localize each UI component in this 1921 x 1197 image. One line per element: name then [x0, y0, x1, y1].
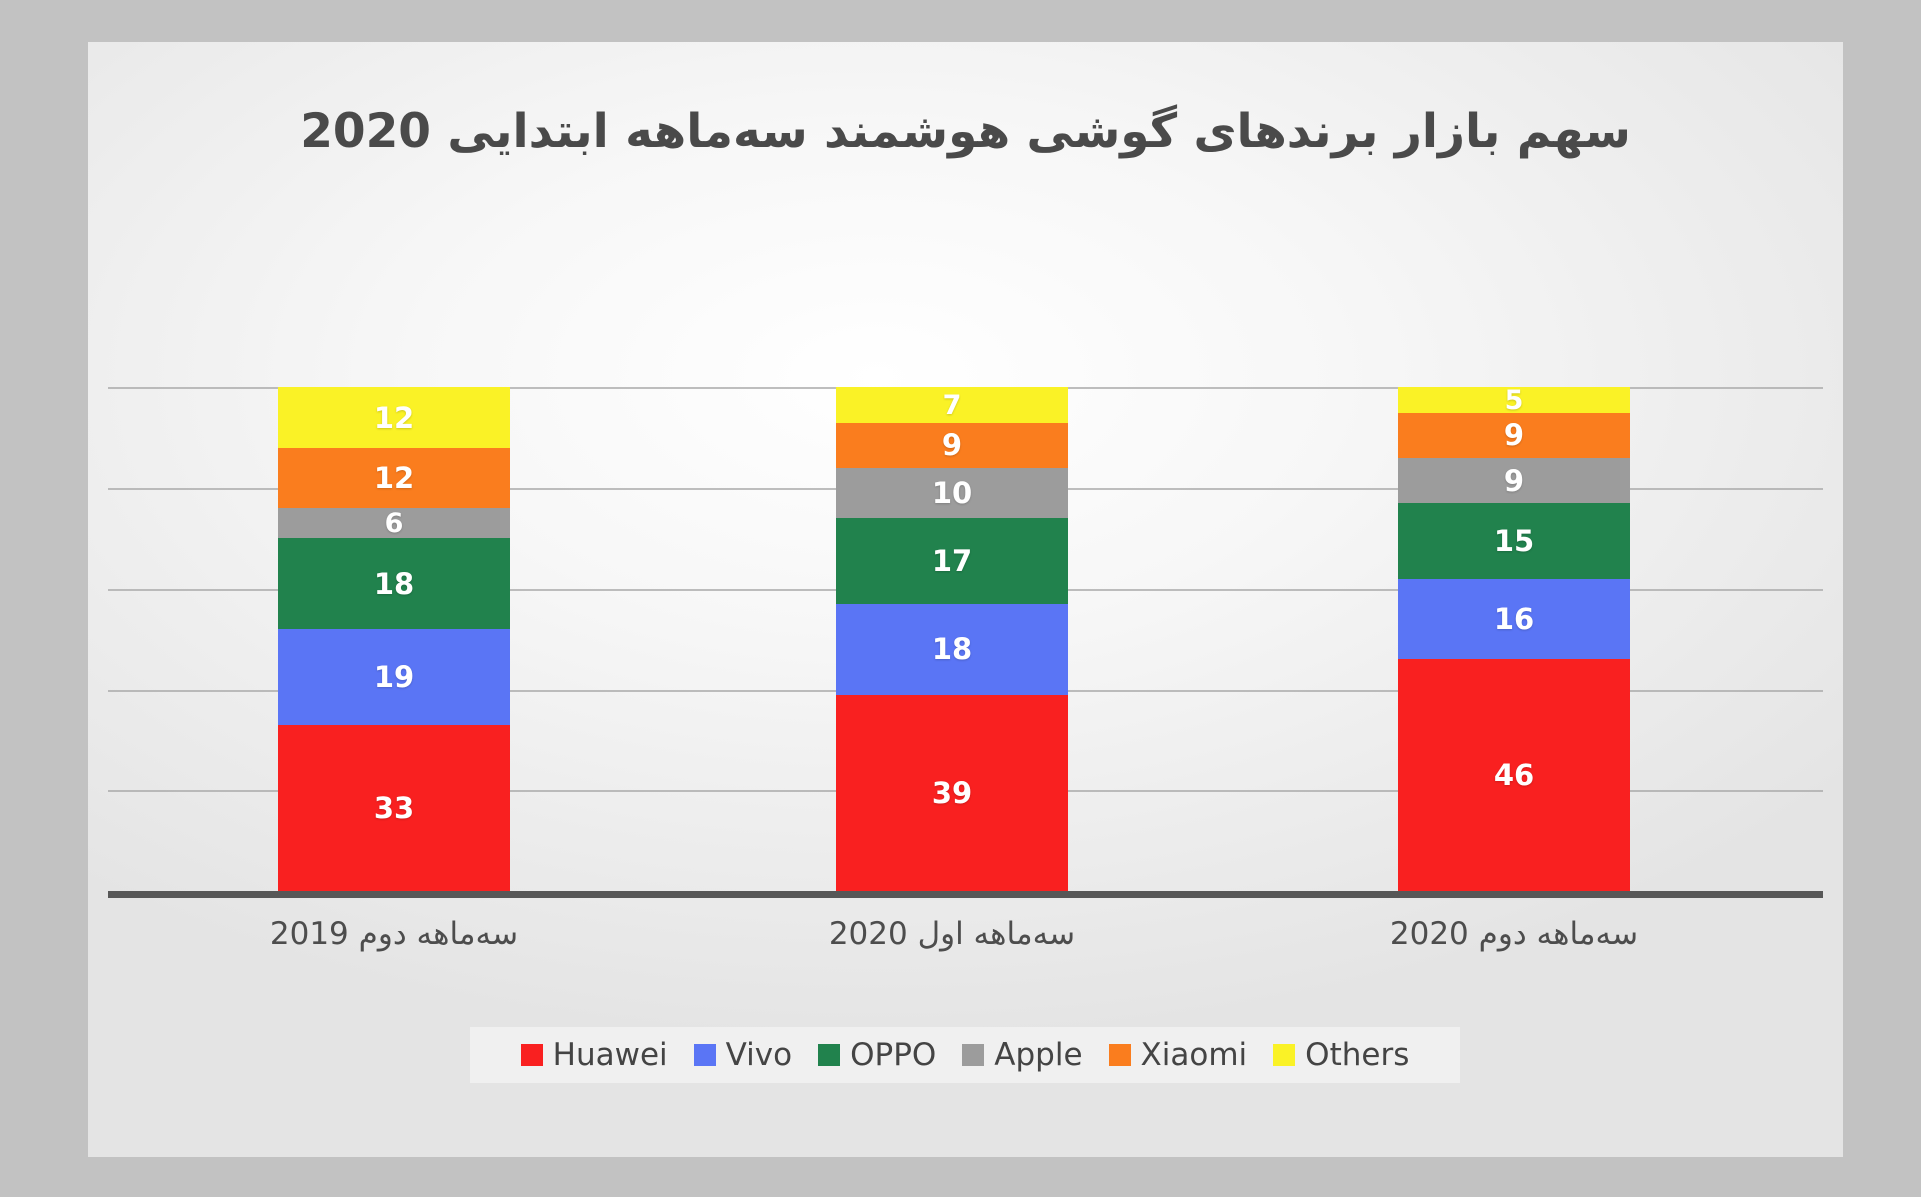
legend-item-apple[interactable]: Apple — [962, 1037, 1082, 1073]
bar-segment-value: 18 — [374, 567, 414, 601]
legend-swatch-icon — [1273, 1044, 1295, 1066]
legend-item-others[interactable]: Others — [1273, 1037, 1409, 1073]
chart-panel: سهم بازار برندهای گوشی هوشمند سه‌ماهه اب… — [88, 42, 1843, 1157]
bar-segment-value: 39 — [932, 776, 972, 810]
bar-segment-value: 10 — [932, 476, 972, 510]
bar-segment-value: 12 — [374, 401, 414, 435]
bar-segment-huawei[interactable]: 46 — [1398, 659, 1630, 891]
bar-segment-others[interactable]: 12 — [278, 387, 510, 447]
legend-label: Xiaomi — [1141, 1037, 1248, 1073]
bar-segment-value: 6 — [385, 508, 404, 539]
bar-segment-value: 9 — [942, 428, 962, 462]
category-label: سه‌ماهه دوم 2020 — [1299, 916, 1729, 952]
bar-segment-others[interactable]: 7 — [836, 387, 1068, 422]
legend-label: Huawei — [553, 1037, 668, 1073]
legend-label: Others — [1305, 1037, 1409, 1073]
bar-segment-value: 18 — [932, 632, 972, 666]
slide-canvas: سهم بازار برندهای گوشی هوشمند سه‌ماهه اب… — [0, 0, 1921, 1197]
legend-swatch-icon — [694, 1044, 716, 1066]
bar-segment-vivo[interactable]: 19 — [278, 629, 510, 725]
bar-segment-xiaomi[interactable]: 9 — [836, 423, 1068, 468]
chart-legend: HuaweiVivoOPPOAppleXiaomiOthers — [470, 1027, 1460, 1083]
bar-segment-value: 5 — [1505, 385, 1524, 416]
legend-item-vivo[interactable]: Vivo — [694, 1037, 792, 1073]
x-axis-line — [108, 891, 1823, 898]
category-label: سه‌ماهه اول 2020 — [737, 916, 1167, 952]
bar-segment-apple[interactable]: 9 — [1398, 458, 1630, 503]
bar-segment-others[interactable]: 5 — [1398, 387, 1630, 412]
legend-swatch-icon — [521, 1044, 543, 1066]
bar-segment-value: 16 — [1494, 602, 1534, 636]
bar-segment-xiaomi[interactable]: 9 — [1398, 413, 1630, 458]
bar-segment-oppo[interactable]: 17 — [836, 518, 1068, 604]
legend-item-huawei[interactable]: Huawei — [521, 1037, 668, 1073]
bar-segment-oppo[interactable]: 18 — [278, 538, 510, 629]
bar-segment-vivo[interactable]: 18 — [836, 604, 1068, 695]
bar-segment-value: 15 — [1494, 524, 1534, 558]
legend-item-xiaomi[interactable]: Xiaomi — [1109, 1037, 1248, 1073]
bar-segment-oppo[interactable]: 15 — [1398, 503, 1630, 579]
bar-segment-huawei[interactable]: 39 — [836, 695, 1068, 891]
legend-swatch-icon — [818, 1044, 840, 1066]
bar-segment-huawei[interactable]: 33 — [278, 725, 510, 891]
bar-segment-value: 19 — [374, 660, 414, 694]
bar-segment-xiaomi[interactable]: 12 — [278, 448, 510, 508]
bar-segment-value: 17 — [932, 544, 972, 578]
category-label: سه‌ماهه دوم 2019 — [179, 916, 609, 952]
legend-item-oppo[interactable]: OPPO — [818, 1037, 936, 1073]
legend-swatch-icon — [1109, 1044, 1131, 1066]
bar-segment-value: 7 — [943, 390, 962, 421]
bar-segment-value: 9 — [1504, 464, 1524, 498]
bar-segment-value: 33 — [374, 791, 414, 825]
bar-segment-value: 9 — [1504, 418, 1524, 452]
legend-swatch-icon — [962, 1044, 984, 1066]
bar-segment-apple[interactable]: 10 — [836, 468, 1068, 518]
chart-title: سهم بازار برندهای گوشی هوشمند سه‌ماهه اب… — [88, 104, 1843, 159]
stacked-bar[interactable]: 12126181933 — [278, 387, 510, 891]
legend-label: Apple — [994, 1037, 1082, 1073]
stacked-bar[interactable]: 7910171839 — [836, 387, 1068, 891]
bar-segment-value: 12 — [374, 461, 414, 495]
stacked-bar[interactable]: 599151646 — [1398, 387, 1630, 891]
bar-segment-value: 46 — [1494, 758, 1534, 792]
bar-segment-apple[interactable]: 6 — [278, 508, 510, 538]
bar-segment-vivo[interactable]: 16 — [1398, 579, 1630, 660]
legend-label: OPPO — [850, 1037, 936, 1073]
legend-label: Vivo — [726, 1037, 792, 1073]
